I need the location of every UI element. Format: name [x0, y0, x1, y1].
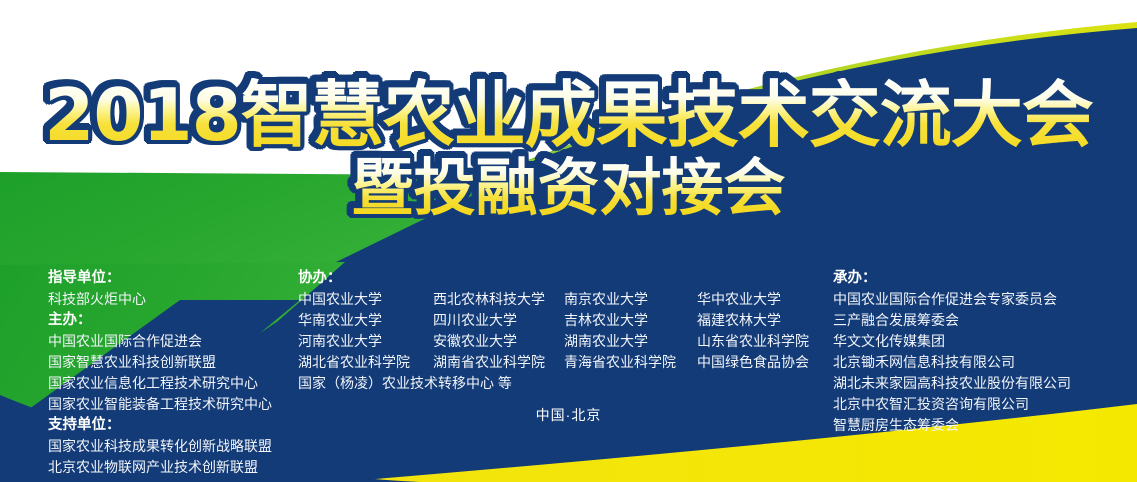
co-organizer-cell: 湖南省农业科学院: [433, 352, 564, 373]
supporter-item: 国家农业科技成果转化创新战略联盟: [48, 436, 272, 457]
organizer-heading: 主办：: [48, 310, 272, 331]
column-co-organizers: 协办： 中国农业大学 西北农林科技大学 南京农业大学 华中农业大学 华南农业大学…: [298, 268, 809, 394]
table-row: 中国农业大学 西北农林科技大学 南京农业大学 华中农业大学: [298, 289, 809, 310]
guidance-item: 科技部火炬中心: [48, 289, 272, 310]
table-row: 国家（杨凌）农业技术转移中心 等: [298, 373, 809, 394]
co-organizer-cell: 西北农林科技大学: [433, 289, 564, 310]
co-organizer-cell: 福建农林大学: [697, 310, 781, 331]
organizer-item: 国家农业信息化工程技术研究中心: [48, 373, 272, 394]
co-organizer-cell: 中国绿色食品协会: [697, 352, 809, 373]
co-organizer-cell: 安徽农业大学: [433, 331, 564, 352]
co-organizer-cell: 湖南农业大学: [564, 331, 697, 352]
conference-banner: 2018智慧农业成果技术交流大会 暨投融资对接会 指导单位： 科技部火炬中心 主…: [0, 0, 1137, 482]
guidance-heading: 指导单位：: [48, 268, 272, 289]
column-guidance: 指导单位： 科技部火炬中心 主办： 中国农业国际合作促进会 国家智慧农业科技创新…: [48, 268, 272, 478]
host-item: 中国农业国际合作促进会专家委员会: [833, 289, 1071, 310]
host-item: 北京锄禾网信息科技有限公司: [833, 352, 1071, 373]
organizer-item: 中国农业国际合作促进会: [48, 331, 272, 352]
table-row: 湖北省农业科学院 湖南省农业科学院 青海省农业科学院 中国绿色食品协会: [298, 352, 809, 373]
co-organizer-cell: 中国农业大学: [298, 289, 433, 310]
venue-location: 中国·北京: [0, 405, 1137, 425]
co-organizer-cell: 华中农业大学: [697, 289, 781, 310]
co-organizer-cell: 山东省农业科学院: [697, 331, 809, 352]
table-row: 河南农业大学 安徽农业大学 湖南农业大学 山东省农业科学院: [298, 331, 809, 352]
co-organizer-cell: 四川农业大学: [433, 310, 564, 331]
organizer-item: 国家智慧农业科技创新联盟: [48, 352, 272, 373]
host-item: 湖北未来家园高科技农业股份有限公司: [833, 373, 1071, 394]
co-organizer-cell: 吉林农业大学: [564, 310, 697, 331]
table-row: 华南农业大学 四川农业大学 吉林农业大学 福建农林大学: [298, 310, 809, 331]
host-heading: 承办：: [833, 268, 1071, 289]
co-organizer-grid: 中国农业大学 西北农林科技大学 南京农业大学 华中农业大学 华南农业大学 四川农…: [298, 289, 809, 394]
host-item: 三产融合发展筹委会: [833, 310, 1071, 331]
supporter-item: 北京农业物联网产业技术创新联盟: [48, 457, 272, 478]
co-organizer-cell: 华南农业大学: [298, 310, 433, 331]
co-organizer-cell: 湖北省农业科学院: [298, 352, 433, 373]
co-organizer-cell: 南京农业大学: [564, 289, 697, 310]
co-organizer-cell: 青海省农业科学院: [564, 352, 697, 373]
co-organizer-cell: 河南农业大学: [298, 331, 433, 352]
co-organizer-heading: 协办：: [298, 268, 809, 289]
co-organizer-cell-last: 国家（杨凌）农业技术转移中心 等: [298, 373, 512, 394]
host-item: 华文文化传媒集团: [833, 331, 1071, 352]
